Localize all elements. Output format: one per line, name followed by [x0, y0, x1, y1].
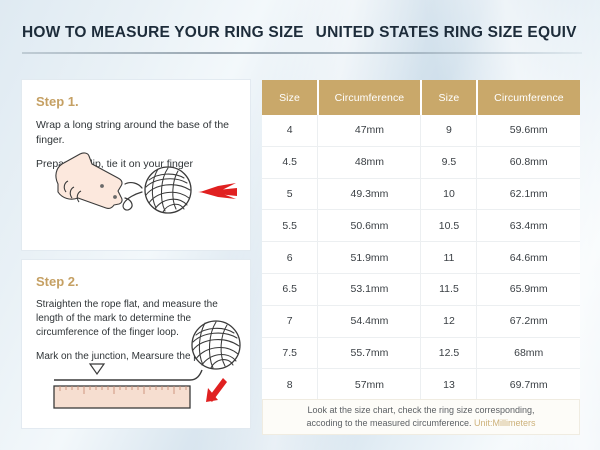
cell-circ-right: 68mm	[477, 337, 580, 369]
cell-circ-right: 65.9mm	[477, 273, 580, 305]
cell-circ-right: 63.4mm	[477, 210, 580, 242]
cell-circ-left: 51.9mm	[318, 242, 421, 274]
column-header-size-left: Size	[262, 80, 318, 115]
table-body: 4 47mm 9 59.6mm 4.5 48mm 9.5 60.8mm 5 49…	[262, 115, 580, 432]
cell-size-right: 10.5	[421, 210, 477, 242]
note-line-2-text: accoding to the measured circumference.	[306, 418, 471, 428]
cell-size-right: 13	[421, 369, 477, 401]
note-line-1: Look at the size chart, check the ring s…	[307, 404, 534, 417]
table-row: 7.5 55.7mm 12.5 68mm	[262, 337, 580, 369]
cell-size-left: 6.5	[262, 273, 318, 305]
table-header-row: Size Circumference Size Circumference	[262, 80, 580, 115]
cell-size-left: 5.5	[262, 210, 318, 242]
cell-size-left: 7.5	[262, 337, 318, 369]
cell-circ-left: 50.6mm	[318, 210, 421, 242]
step-2-illustration	[22, 260, 250, 428]
table-row: 8 57mm 13 69.7mm	[262, 369, 580, 401]
table-row: 4.5 48mm 9.5 60.8mm	[262, 146, 580, 178]
table-row: 7 54.4mm 12 67.2mm	[262, 305, 580, 337]
title-left: HOW TO MEASURE YOUR RING SIZE	[22, 24, 304, 41]
cell-circ-right: 67.2mm	[477, 305, 580, 337]
cell-size-left: 4.5	[262, 146, 318, 178]
column-header-circ-right: Circumference	[477, 80, 580, 115]
red-arrow-icon	[206, 378, 227, 402]
step-1-panel: Step 1. Wrap a long string around the ba…	[22, 80, 250, 250]
cell-size-right: 11.5	[421, 273, 477, 305]
page-title: HOW TO MEASURE YOUR RING SIZEUNITED STAT…	[22, 24, 582, 54]
cell-circ-left: 57mm	[318, 369, 421, 401]
yarn-ball-icon	[192, 321, 240, 369]
cell-circ-left: 47mm	[318, 115, 421, 146]
string-loop	[123, 183, 142, 210]
cell-circ-right: 59.6mm	[477, 115, 580, 146]
table-row: 5 49.3mm 10 62.1mm	[262, 178, 580, 210]
cell-size-right: 10	[421, 178, 477, 210]
step-2-panel: Step 2. Straighten the rope flat, and me…	[22, 260, 250, 428]
cell-circ-left: 53.1mm	[318, 273, 421, 305]
cell-size-left: 6	[262, 242, 318, 274]
cell-size-left: 7	[262, 305, 318, 337]
red-arrow-icon	[198, 183, 237, 199]
ruler-icon	[54, 386, 190, 408]
column-header-size-right: Size	[421, 80, 477, 115]
table-row: 6.5 53.1mm 11.5 65.9mm	[262, 273, 580, 305]
cell-size-left: 5	[262, 178, 318, 210]
cell-size-right: 11	[421, 242, 477, 274]
column-header-circ-left: Circumference	[318, 80, 421, 115]
hand-detail-dot-2	[113, 195, 117, 199]
cell-circ-right: 60.8mm	[477, 146, 580, 178]
cell-circ-right: 69.7mm	[477, 369, 580, 401]
cell-circ-left: 54.4mm	[318, 305, 421, 337]
step-1-illustration	[22, 80, 250, 250]
mark-triangle-icon	[90, 364, 104, 374]
note-unit-label: Unit:Millimeters	[474, 418, 536, 428]
ring-size-table: Size Circumference Size Circumference 4 …	[262, 80, 580, 432]
yarn-ball-icon	[145, 167, 191, 213]
cell-circ-left: 49.3mm	[318, 178, 421, 210]
title-right: UNITED STATES RING SIZE EQUIV	[316, 24, 577, 41]
table-row: 4 47mm 9 59.6mm	[262, 115, 580, 146]
table-row: 5.5 50.6mm 10.5 63.4mm	[262, 210, 580, 242]
cell-size-left: 4	[262, 115, 318, 146]
cell-circ-right: 64.6mm	[477, 242, 580, 274]
cell-size-right: 12.5	[421, 337, 477, 369]
title-divider	[22, 52, 582, 54]
cell-size-left: 8	[262, 369, 318, 401]
cell-circ-left: 48mm	[318, 146, 421, 178]
pointing-hand-icon	[56, 153, 122, 208]
hand-detail-dot	[100, 184, 104, 188]
cell-size-right: 12	[421, 305, 477, 337]
cell-size-right: 9.5	[421, 146, 477, 178]
title-text: HOW TO MEASURE YOUR RING SIZEUNITED STAT…	[22, 24, 582, 42]
string-to-ball	[190, 370, 202, 380]
cell-circ-left: 55.7mm	[318, 337, 421, 369]
cell-size-right: 9	[421, 115, 477, 146]
table-row: 6 51.9mm 11 64.6mm	[262, 242, 580, 274]
size-table-container: Size Circumference Size Circumference 4 …	[262, 80, 580, 432]
cell-circ-right: 62.1mm	[477, 178, 580, 210]
note-line-2: accoding to the measured circumference. …	[306, 417, 535, 430]
chart-note: Look at the size chart, check the ring s…	[262, 399, 580, 435]
